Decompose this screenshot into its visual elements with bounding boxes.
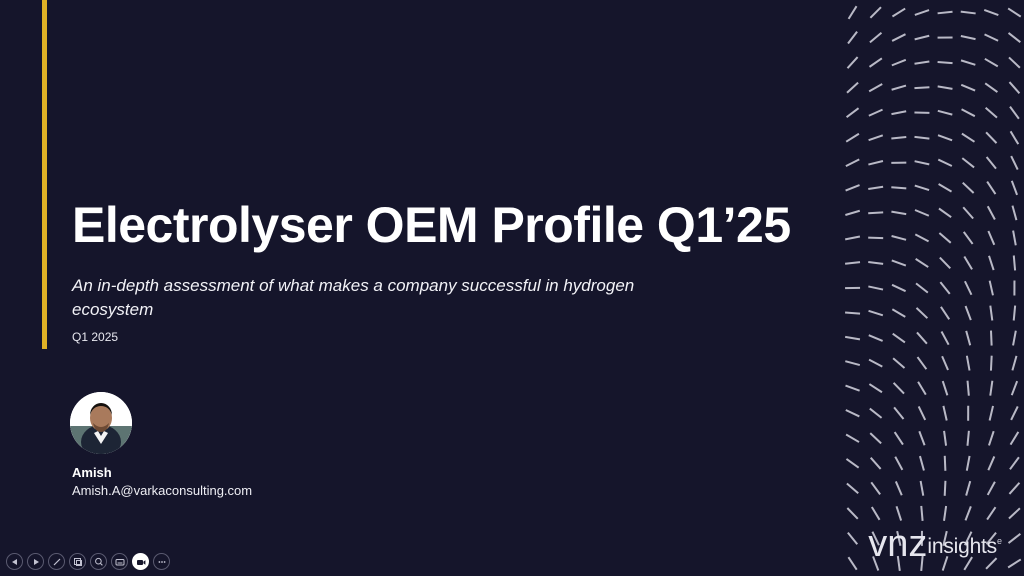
author-block: Amish Amish.A@varkaconsulting.com	[70, 392, 370, 499]
play-slide-button[interactable]	[27, 553, 44, 570]
brand-mark: vnz	[868, 526, 927, 562]
brand-superscript: e	[997, 537, 1002, 546]
copy-icon	[71, 555, 85, 569]
triangle-right-icon	[29, 555, 43, 569]
rotating-dash-field-decoration	[839, 0, 1024, 576]
avatar	[70, 392, 132, 454]
previous-slide-button[interactable]	[6, 553, 23, 570]
more-options-button[interactable]	[153, 553, 170, 570]
date-label: Q1 2025	[72, 329, 118, 345]
magnifier-icon	[92, 555, 106, 569]
duplicate-slide-button[interactable]	[69, 553, 86, 570]
page-subtitle: An in-depth assessment of what makes a c…	[72, 274, 672, 322]
triangle-left-icon	[8, 555, 22, 569]
camera-icon	[134, 555, 148, 569]
page-title: Electrolyser OEM Profile Q1’25	[72, 195, 842, 255]
author-name: Amish	[72, 464, 370, 481]
zoom-button[interactable]	[90, 553, 107, 570]
record-button[interactable]	[132, 553, 149, 570]
presentation-slide: Electrolyser OEM Profile Q1’25 An in-dep…	[0, 0, 1024, 576]
slide-toolbar[interactable]	[6, 553, 170, 570]
pen-icon	[50, 555, 64, 569]
gold-accent-bar	[42, 0, 47, 349]
author-email: Amish.A@varkaconsulting.com	[72, 482, 370, 499]
caption-icon	[113, 555, 127, 569]
ellipsis-icon	[155, 555, 169, 569]
brand-word: insights	[927, 532, 997, 562]
brand-logo: vnz insights e	[868, 526, 1002, 562]
captions-button[interactable]	[111, 553, 128, 570]
pen-tool-button[interactable]	[48, 553, 65, 570]
